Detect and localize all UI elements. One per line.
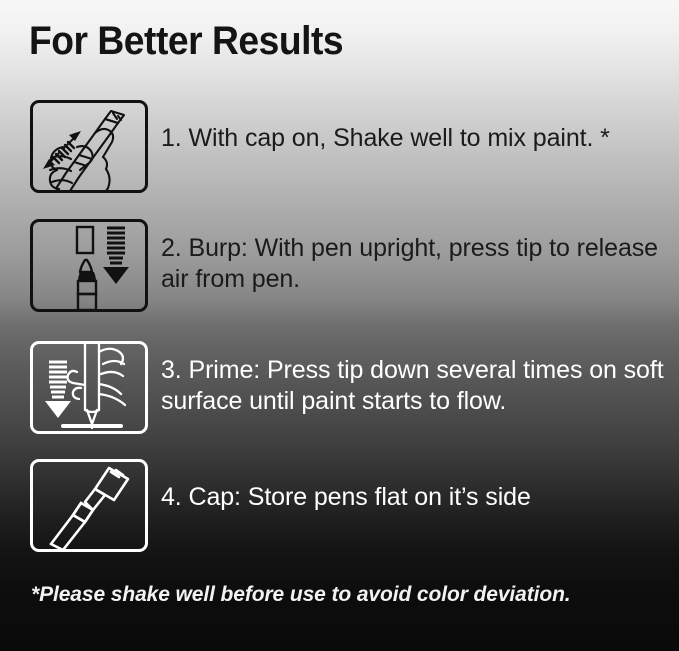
instruction-step-3: 3. Prime: Press tip down several times o… (0, 341, 679, 434)
hand-pressing-pen-prime-icon (30, 341, 148, 434)
instruction-step-1: 1. With cap on, Shake well to mix paint.… (0, 100, 679, 193)
instruction-step-2: 2. Burp: With pen upright, press tip to … (0, 219, 679, 312)
instruction-step-1-text: 1. With cap on, Shake well to mix paint.… (161, 100, 610, 154)
instruction-step-4: 4. Cap: Store pens flat on it’s side (0, 459, 679, 552)
instruction-panel: For Better Results (0, 0, 679, 651)
instruction-step-2-text: 2. Burp: With pen upright, press tip to … (161, 219, 666, 295)
footnote-text: *Please shake well before use to avoid c… (31, 583, 571, 607)
page-title: For Better Results (29, 17, 343, 65)
hand-shaking-pen-icon (30, 100, 148, 193)
instruction-step-3-text: 3. Prime: Press tip down several times o… (161, 341, 666, 417)
instruction-step-4-text: 4. Cap: Store pens flat on it’s side (161, 459, 531, 513)
capped-pen-flat-icon (30, 459, 148, 552)
upright-pen-burp-icon (30, 219, 148, 312)
